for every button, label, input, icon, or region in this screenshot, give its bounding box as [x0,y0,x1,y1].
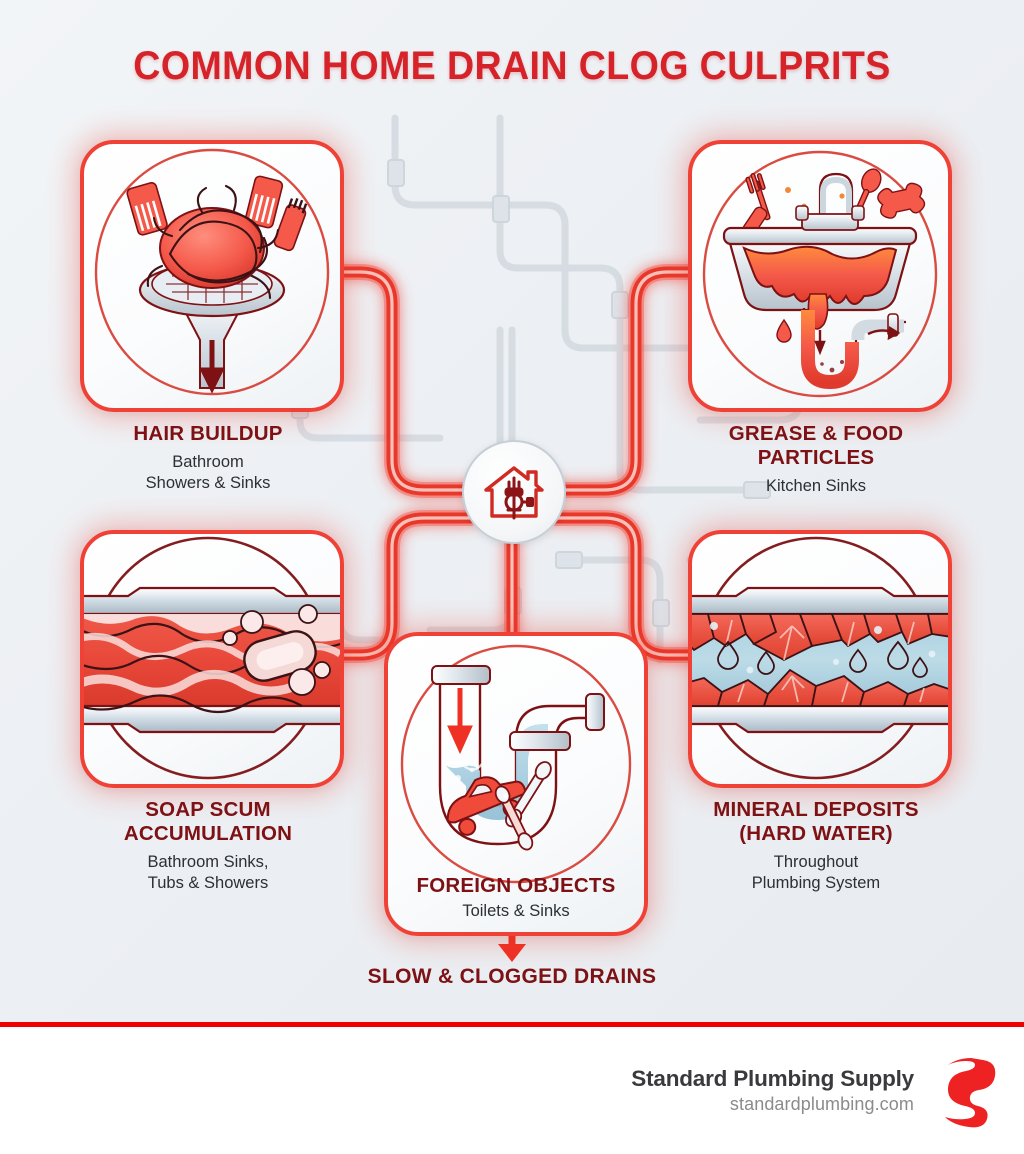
standard-plumbing-s-logo-icon [936,1054,998,1128]
card-subtitle-mineral-line1: Throughout [774,853,858,871]
outcome-label: SLOW & CLOGGED DRAINS [0,965,1024,989]
card-foreign-objects[interactable]: FOREIGN OBJECTS Toilets & Sinks [384,632,648,936]
card-subtitle-mineral-line2: Plumbing System [752,874,880,892]
hair-clump-on-drain-grate-with-combs-icon [84,144,340,408]
footer: Standard Plumbing Supply standardplumbin… [0,1027,1024,1154]
house-with-pipe-valve-icon [478,456,550,528]
infographic-panel: COMMON HOME DRAIN CLOG CULPRITS [0,0,1024,1024]
card-title-soap-line1: SOAP SCUM [145,798,271,821]
card-subtitle-foreign-objects: Toilets & Sinks [386,901,646,922]
central-hub-badge[interactable] [462,440,566,544]
card-subtitle-grease: Kitchen Sinks [766,477,866,495]
card-title-foreign-objects: FOREIGN OBJECTS [386,874,646,898]
card-hair-buildup[interactable] [80,140,344,412]
card-title-hair-buildup: HAIR BUILDUP [48,422,368,446]
footer-brand-name: Standard Plumbing Supply [631,1066,914,1092]
card-title-mineral-line2: (HARD WATER) [739,822,892,845]
card-title-soap-line2: ACCUMULATION [124,822,292,845]
caption-mineral-deposits-hard-water: MINERAL DEPOSITS (HARD WATER) Throughout… [656,798,976,895]
footer-website[interactable]: standardplumbing.com [631,1094,914,1115]
card-soap-scum-accumulation[interactable] [80,530,344,788]
caption-hair-buildup: HAIR BUILDUP Bathroom Showers & Sinks [48,422,368,494]
card-subtitle-soap-line2: Tubs & Showers [148,874,268,892]
card-subtitle-line1: Bathroom [172,453,244,471]
card-title-grease-line1: GREASE & FOOD [729,422,904,445]
caption-grease-food-particles: GREASE & FOOD PARTICLES Kitchen Sinks [656,422,976,497]
caption-foreign-objects: FOREIGN OBJECTS Toilets & Sinks [386,874,646,922]
card-title-mineral-line1: MINERAL DEPOSITS [713,798,919,821]
pipe-cross-section-soap-scum-icon [84,534,340,784]
caption-soap-scum-accumulation: SOAP SCUM ACCUMULATION Bathroom Sinks, T… [48,798,368,895]
page-title: COMMON HOME DRAIN CLOG CULPRITS [31,44,994,89]
card-grease-food-particles[interactable] [688,140,952,412]
kitchen-sink-grease-in-ptrap-icon [692,144,948,408]
card-mineral-deposits-hard-water[interactable] [688,530,952,788]
pipe-cross-section-mineral-scale-icon [692,534,948,784]
card-subtitle-soap-line1: Bathroom Sinks, [147,853,268,871]
card-title-grease-line2: PARTICLES [758,446,874,469]
infographic-page: COMMON HOME DRAIN CLOG CULPRITS [0,0,1024,1154]
card-subtitle-line2: Showers & Sinks [146,474,271,492]
